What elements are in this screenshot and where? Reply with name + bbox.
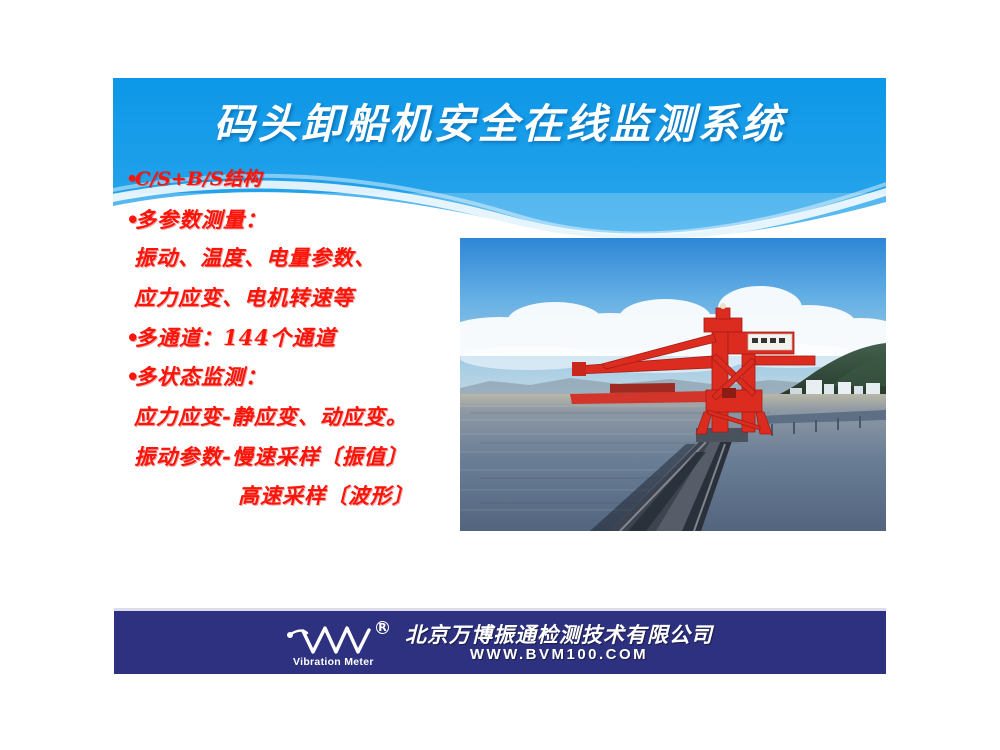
bullet-dot-icon: • xyxy=(126,209,135,230)
content-panel: 码头卸船机安全在线监测系统 •C/S+B/S结构 •多参数测量： 振动、温度、电… xyxy=(113,78,886,608)
photo-artwork xyxy=(460,238,886,531)
list-item-label: 多参数测量： xyxy=(135,207,267,232)
footer-content: R Vibration Meter 北京万博振通检测技术有限公司 WWW.BVM… xyxy=(287,621,713,667)
list-item: 应力应变-静应变、动应变。 xyxy=(126,406,476,427)
bullet-dot-icon: • xyxy=(126,327,135,348)
list-item: •多通道：144个通道 xyxy=(126,327,476,348)
list-item: •多参数测量： xyxy=(126,209,476,230)
list-item: •C/S+B/S结构 xyxy=(126,170,476,189)
list-item-label: 应力应变-静应变、动应变。 xyxy=(134,404,408,429)
vibration-waveform-logo-icon: R Vibration Meter xyxy=(287,621,391,667)
list-item-label: 应力应变、电机转速等 xyxy=(134,285,354,310)
footer-text-block: 北京万博振通检测技术有限公司 WWW.BVM100.COM xyxy=(405,624,713,663)
bullet-list: •C/S+B/S结构 •多参数测量： 振动、温度、电量参数、 应力应变、电机转速… xyxy=(126,170,476,506)
list-item-label: 多状态监测： xyxy=(135,364,267,389)
list-item-label: C/S+B/S结构 xyxy=(135,168,261,190)
footer-bar: R Vibration Meter 北京万博振通检测技术有限公司 WWW.BVM… xyxy=(114,608,886,674)
list-item-label: 振动参数-慢速采样〔振值〕 xyxy=(134,444,408,469)
slide-canvas: 码头卸船机安全在线监测系统 •C/S+B/S结构 •多参数测量： 振动、温度、电… xyxy=(0,0,1000,750)
logo-wordmark: Vibration Meter xyxy=(293,656,374,668)
bullet-dot-icon: • xyxy=(126,170,135,189)
registered-trademark-icon: R xyxy=(376,621,389,634)
bullet-dot-icon: • xyxy=(126,366,135,387)
website-url: WWW.BVM100.COM xyxy=(405,647,713,663)
list-item: 振动、温度、电量参数、 xyxy=(126,247,476,268)
list-item: 振动参数-慢速采样〔振值〕 xyxy=(126,446,476,467)
company-name: 北京万博振通检测技术有限公司 xyxy=(405,624,713,646)
harbor-crane-photo xyxy=(460,238,886,531)
list-item: •多状态监测： xyxy=(126,366,476,387)
list-item-label: 振动、温度、电量参数、 xyxy=(134,245,376,270)
list-item: 高速采样〔波形〕 xyxy=(126,485,476,506)
list-item: 应力应变、电机转速等 xyxy=(126,287,476,308)
list-item-label: 高速采样〔波形〕 xyxy=(238,483,414,508)
page-title: 码头卸船机安全在线监测系统 xyxy=(113,104,886,145)
list-item-label: 多通道：144个通道 xyxy=(135,325,336,350)
